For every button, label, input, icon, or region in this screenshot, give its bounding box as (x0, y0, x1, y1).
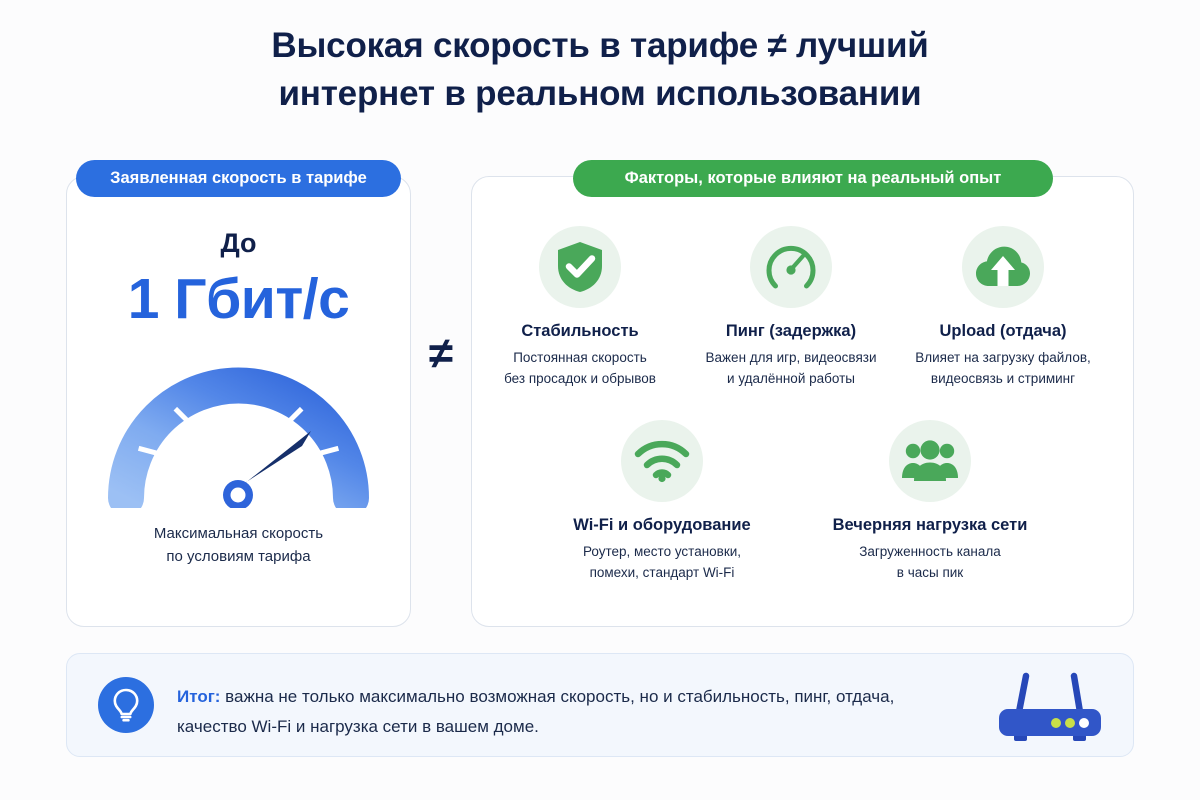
factor-desc-line-2: видеосвязь и стриминг (903, 369, 1103, 390)
people-group-icon (889, 420, 971, 502)
factor-desc-line-1: Постоянная скорость (480, 348, 680, 369)
gauge-caption-line-2: по условиям тарифа (66, 545, 411, 568)
factor-desc: Постоянная скорость без просадок и обрыв… (480, 348, 680, 389)
factor-desc-line-2: в часы пик (830, 563, 1030, 584)
factor-desc-line-2: и удалённой работы (691, 369, 891, 390)
lightbulb-icon (98, 677, 154, 733)
gauge-caption-line-1: Максимальная скорость (66, 522, 411, 545)
gauge-caption: Максимальная скорость по условиям тарифа (66, 522, 411, 569)
declared-speed-badge: Заявленная скорость в тарифе (76, 160, 401, 197)
factor-desc-line-1: Загруженность канала (830, 542, 1030, 563)
factor-desc: Роутер, место установки, помехи, стандар… (562, 542, 762, 583)
factor-title: Upload (отдача) (903, 322, 1103, 341)
infographic-page: Высокая скорость в тарифе ≠ лучший интер… (0, 0, 1200, 800)
factor-ping: Пинг (задержка) Важен для игр, видеосвяз… (691, 226, 891, 389)
factor-title: Wi-Fi и оборудование (562, 516, 762, 535)
not-equal-icon: ≠ (412, 332, 470, 376)
summary-body: важна не только максимально возможная ск… (177, 687, 894, 736)
factor-desc: Важен для игр, видеосвязи и удалённой ра… (691, 348, 891, 389)
factors-badge: Факторы, которые влияют на реальный опыт (573, 160, 1053, 197)
wifi-icon (621, 420, 703, 502)
factor-desc-line-2: без просадок и обрывов (480, 369, 680, 390)
wifi-router-icon (990, 668, 1110, 746)
factor-title: Вечерняя нагрузка сети (830, 516, 1030, 535)
speed-prefix-label: До (66, 228, 411, 259)
factor-wifi-equipment: Wi-Fi и оборудование Роутер, место устан… (562, 420, 762, 583)
factor-desc: Загруженность канала в часы пик (830, 542, 1030, 583)
speed-value: 1 Гбит/с (66, 266, 411, 332)
cloud-upload-icon (962, 226, 1044, 308)
factor-desc: Влияет на загрузку файлов, видеосвязь и … (903, 348, 1103, 389)
factor-desc-line-2: помехи, стандарт Wi-Fi (562, 563, 762, 584)
speedometer-icon (750, 226, 832, 308)
speed-gauge (106, 358, 371, 508)
factor-desc-line-1: Важен для игр, видеосвязи (691, 348, 891, 369)
factor-desc-line-1: Влияет на загрузку файлов, (903, 348, 1103, 369)
page-title-line-2: интернет в реальном использовании (0, 70, 1200, 118)
factor-desc-line-1: Роутер, место установки, (562, 542, 762, 563)
factor-title: Стабильность (480, 322, 680, 341)
page-title-line-1: Высокая скорость в тарифе ≠ лучший (0, 22, 1200, 70)
factor-stability: Стабильность Постоянная скорость без про… (480, 226, 680, 389)
factor-evening-load: Вечерняя нагрузка сети Загруженность кан… (830, 420, 1030, 583)
summary-label: Итог: (177, 687, 220, 706)
summary-text: Итог: важна не только максимально возмож… (177, 682, 957, 742)
factor-title: Пинг (задержка) (691, 322, 891, 341)
factor-upload: Upload (отдача) Влияет на загрузку файло… (903, 226, 1103, 389)
shield-check-icon (539, 226, 621, 308)
page-title: Высокая скорость в тарифе ≠ лучший интер… (0, 22, 1200, 117)
